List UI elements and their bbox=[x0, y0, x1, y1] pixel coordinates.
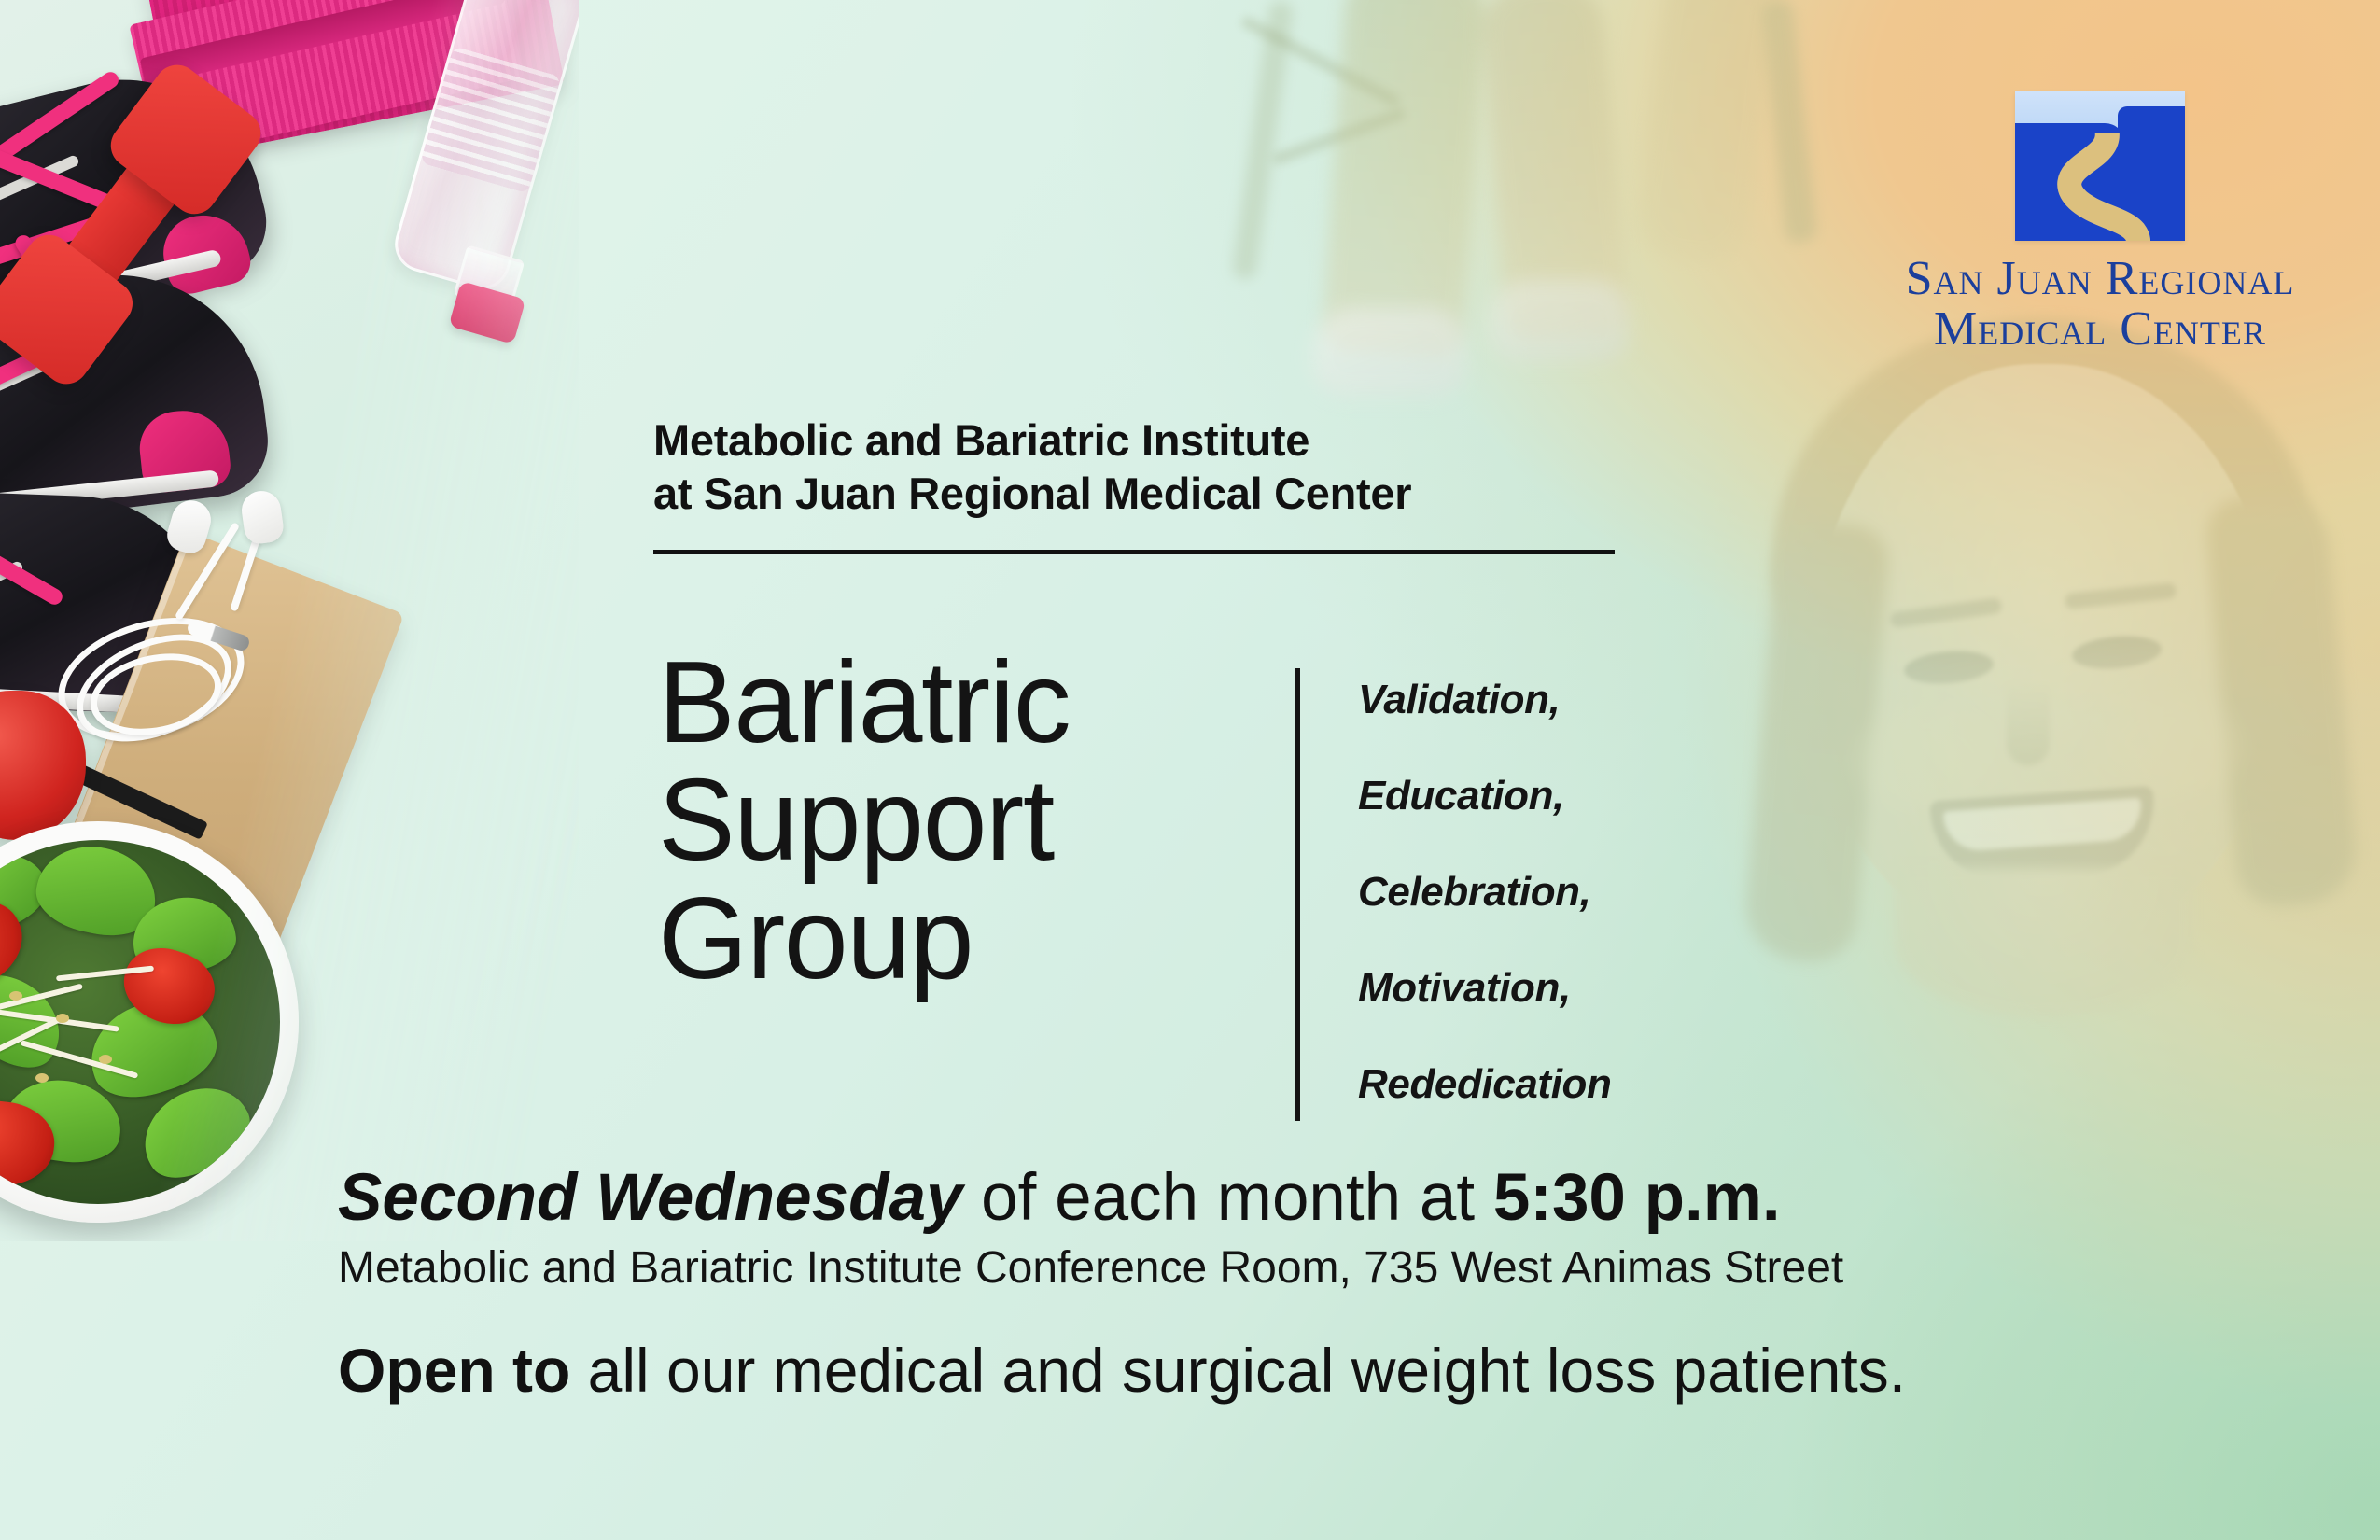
logo-line-1: San Juan Regional bbox=[1904, 254, 2296, 304]
meeting-location-line: Metabolic and Bariatric Institute Confer… bbox=[338, 1246, 2298, 1291]
page-title: Bariatric Support Group bbox=[658, 644, 1274, 998]
teeth-icon bbox=[1943, 798, 2144, 853]
seed-icon bbox=[9, 991, 22, 1001]
walker-leg-icon bbox=[1322, 0, 1489, 359]
keywords-list: Validation, Education, Celebration, Moti… bbox=[1358, 677, 1881, 1108]
keyword-item: Celebration, bbox=[1358, 869, 1881, 916]
logo-line-2: Medical Center bbox=[1904, 304, 2296, 355]
flyer-canvas: San Juan Regional Medical Center Metabol… bbox=[0, 0, 2380, 1540]
keyword-item: Rededication bbox=[1358, 1061, 1881, 1108]
horizontal-divider bbox=[653, 550, 1615, 554]
eligibility-rest: all our medical and surgical weight loss… bbox=[570, 1336, 1906, 1405]
meeting-mid-text: of each month at bbox=[962, 1161, 1492, 1235]
title-line-1: Bariatric bbox=[658, 644, 1274, 762]
subtitle-line-1: Metabolic and Bariatric Institute bbox=[653, 413, 1587, 467]
title-line-3: Group bbox=[658, 880, 1274, 998]
eligibility-emphasis: Open to bbox=[338, 1336, 570, 1405]
meeting-time: 5:30 p.m. bbox=[1493, 1161, 1781, 1235]
logo-wordmark: San Juan Regional Medical Center bbox=[1904, 254, 2296, 355]
nose-icon bbox=[2007, 681, 2050, 765]
cheek-highlight bbox=[2100, 695, 2240, 798]
vertical-divider bbox=[1295, 668, 1300, 1121]
subtitle-line-2: at San Juan Regional Medical Center bbox=[653, 467, 1587, 520]
fitness-collage-photo bbox=[0, 0, 579, 1241]
seed-icon bbox=[99, 1055, 112, 1064]
hair-strand-icon bbox=[2204, 490, 2360, 910]
meeting-schedule-line: Second Wednesday of each month at 5:30 p… bbox=[338, 1165, 2205, 1231]
keyword-item: Education, bbox=[1358, 773, 1881, 819]
earbud-tip-icon bbox=[239, 488, 285, 545]
chin-icon bbox=[1895, 868, 2193, 1017]
logo-river-icon bbox=[2021, 133, 2185, 241]
eligibility-line: Open to all our medical and surgical wei… bbox=[338, 1335, 1999, 1407]
organization-logo[interactable]: San Juan Regional Medical Center bbox=[1904, 91, 2296, 355]
walking-shoe-icon bbox=[1311, 308, 1465, 397]
collage-objects bbox=[0, 0, 579, 1241]
salad-contents bbox=[0, 840, 280, 1204]
seed-icon bbox=[35, 1073, 49, 1083]
title-line-2: Support bbox=[658, 762, 1274, 879]
keyword-item: Validation, bbox=[1358, 677, 1881, 723]
walking-shoe-icon bbox=[1489, 280, 1629, 362]
seed-icon bbox=[56, 1014, 69, 1023]
san-juan-river-mesa-logo-icon bbox=[2015, 91, 2185, 241]
keyword-item: Motivation, bbox=[1358, 965, 1881, 1012]
institute-subtitle: Metabolic and Bariatric Institute at San… bbox=[653, 413, 1587, 521]
meeting-day: Second Wednesday bbox=[338, 1161, 962, 1235]
